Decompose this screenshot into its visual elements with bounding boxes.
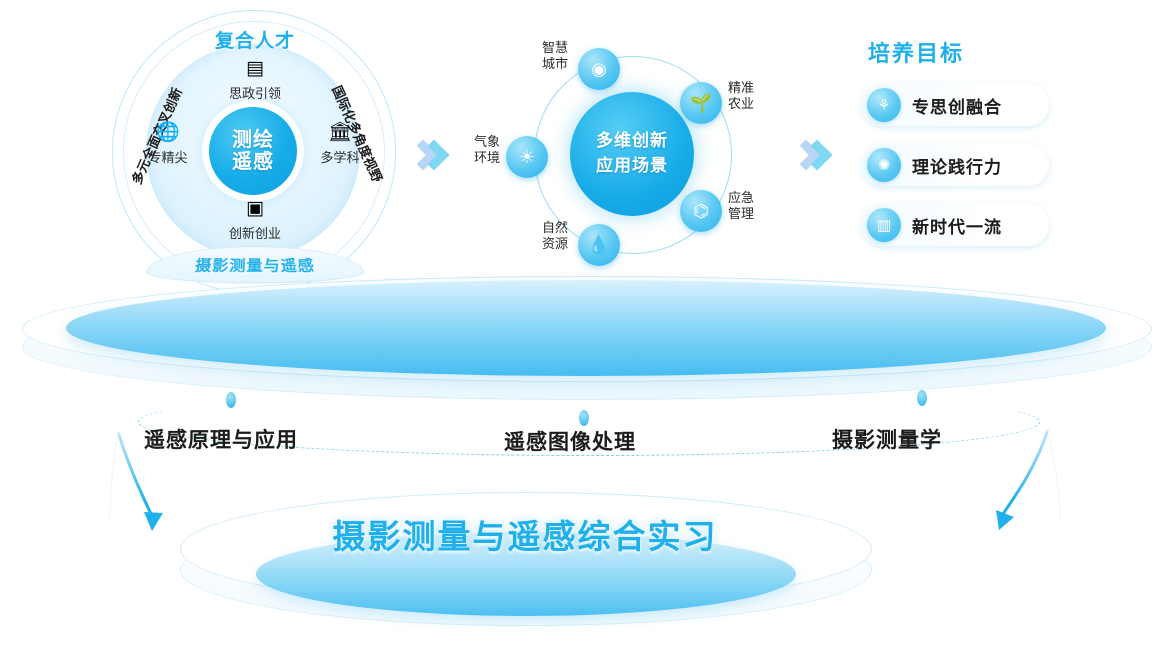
right-flow-arrow-head: [996, 510, 1014, 530]
course-label-remote-sensing-principles: 遥感原理与应用: [144, 424, 298, 454]
node-label-precision-agriculture: 精准 农业: [728, 80, 754, 113]
satellite-ideology-leadership[interactable]: ▤ 思政引领: [215, 56, 295, 102]
satellite-innovation-entrepreneurship[interactable]: ▣ 创新创业: [215, 196, 295, 242]
double-chevron-right-icon: [795, 140, 829, 186]
course-node-dot: [579, 410, 589, 426]
siren-icon: ⌬: [693, 201, 709, 222]
node-label-meteorology-environment: 气象 环境: [438, 134, 500, 167]
training-goals-panel: 培养目标 ⚘ 专思创融合 ✺ 理论践行力 ▥ 新时代一流: [860, 36, 1100, 286]
sun-weather-icon: ☀: [519, 147, 535, 168]
satellite-label: 专精尖: [128, 147, 208, 166]
globe-icon: 🌐: [128, 120, 208, 146]
right-guide-line: [1048, 430, 1060, 520]
chip-gear-icon: ✺: [867, 148, 901, 182]
ring-title: 复合人才: [188, 26, 322, 53]
core-badge-surveying-remote-sensing: 测绘 遥感: [209, 107, 297, 195]
node-precision-agriculture[interactable]: 🌱: [680, 82, 722, 124]
ring-banner-label: 摄影测量与遥感: [194, 253, 316, 275]
left-guide-line: [110, 432, 118, 520]
goal-card-label: 新时代一流: [912, 213, 1002, 238]
top-platform-disc: [22, 276, 1150, 426]
satellite-multidiscipline[interactable]: 🏛 多学科: [300, 120, 380, 166]
sprout-book-icon: ⚘: [867, 88, 901, 122]
goal-card-new-era[interactable]: ▥ 新时代一流: [862, 204, 1049, 246]
plant-icon: 🌱: [690, 93, 712, 114]
satellite-label: 多学科: [300, 147, 380, 166]
infographic-canvas: 复合人才 多元全面交叉创新 国际化多角度视野 测绘 遥感 ▤ 思政引领 🌐 专精…: [0, 0, 1172, 654]
goal-card-practice[interactable]: ✺ 理论践行力: [862, 144, 1049, 186]
mobile-network-icon: ▣: [215, 196, 295, 222]
goal-card-label: 理论践行力: [912, 153, 1002, 178]
course-label-image-processing: 遥感图像处理: [504, 426, 636, 456]
building-icon: 🏛: [300, 120, 380, 146]
node-smart-city[interactable]: ◉: [578, 48, 620, 90]
core-line-1: 测绘: [232, 129, 274, 151]
bottom-platform-disc: 摄影测量与遥感综合实习: [180, 492, 870, 642]
node-label-smart-city: 智慧 城市: [512, 40, 568, 73]
training-goals-title: 培养目标: [868, 36, 1100, 68]
goal-card-label: 专思创融合: [912, 93, 1002, 118]
node-meteorology-environment[interactable]: ☀: [506, 136, 548, 178]
orbit-core-badge: 多维创新 应用场景: [570, 92, 694, 216]
orbit-core-line-1: 多维创新: [596, 129, 668, 154]
node-natural-resources[interactable]: 💧: [578, 224, 620, 266]
core-line-2: 遥感: [232, 151, 274, 173]
course-node-dot: [917, 390, 927, 406]
satellite-label: 创新创业: [215, 223, 295, 242]
application-scenarios-orbit-diagram: 多维创新 应用场景 ◉ 智慧 城市 🌱 精准 农业 ⌬ 应急 管理 💧 自然: [510, 42, 760, 274]
left-flow-arrow-head: [144, 512, 163, 531]
satellite-label: 思政引领: [215, 83, 295, 102]
bottom-title: 摄影测量与遥感综合实习: [180, 510, 870, 558]
course-node-dot: [226, 392, 236, 408]
satellite-specialized[interactable]: 🌐 专精尖: [128, 120, 208, 166]
water-drop-icon: 💧: [588, 235, 610, 256]
disc-top-face: [66, 280, 1106, 376]
course-label-photogrammetry: 摄影测量学: [832, 424, 942, 454]
orbit-core-line-2: 应用场景: [596, 154, 668, 179]
node-emergency-management[interactable]: ⌬: [680, 190, 722, 232]
node-label-natural-resources: 自然 资源: [510, 220, 568, 253]
node-label-emergency-management: 应急 管理: [728, 190, 754, 223]
composite-talent-ring-diagram: 复合人才 多元全面交叉创新 国际化多角度视野 测绘 遥感 ▤ 思政引领 🌐 专精…: [110, 8, 400, 298]
flag-badge-icon: ▥: [867, 208, 901, 242]
right-flow-arrow-shaft: [1003, 430, 1048, 514]
radar-search-icon: ◉: [591, 59, 607, 80]
goal-card-integration[interactable]: ⚘ 专思创融合: [862, 84, 1049, 126]
cloud-document-icon: ▤: [215, 56, 295, 82]
